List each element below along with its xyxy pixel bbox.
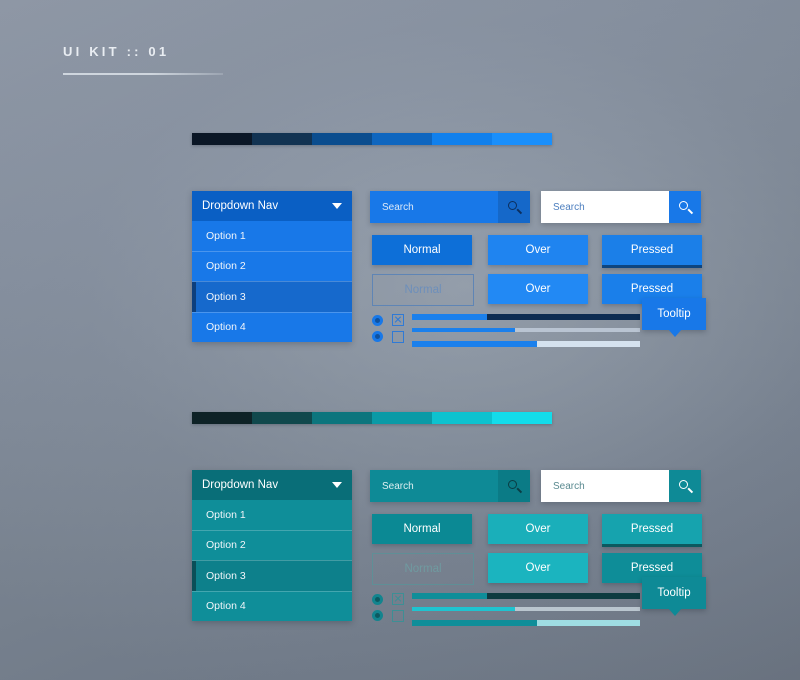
button-label: Over (526, 562, 551, 574)
palette-swatch-6 (492, 133, 552, 145)
check-x-icon (395, 317, 402, 324)
progress-dark[interactable] (412, 593, 640, 599)
button-pressed-solid[interactable]: Pressed (602, 514, 702, 547)
button-label: Normal (403, 523, 440, 535)
title-divider (63, 73, 223, 75)
search-button[interactable] (498, 470, 530, 502)
button-over-alt[interactable]: Over (488, 274, 588, 304)
active-indicator (192, 561, 196, 591)
chevron-down-icon (332, 203, 342, 209)
dropdown-option-1[interactable]: Option 1 (192, 500, 352, 530)
progress-wide[interactable] (412, 620, 640, 626)
checkbox-2[interactable] (392, 610, 404, 622)
progress-wide[interactable] (412, 341, 640, 347)
search-button[interactable] (498, 191, 530, 223)
button-label: Pressed (631, 244, 673, 256)
dropdown-option-label: Option 4 (206, 321, 246, 333)
search-input[interactable]: Search (541, 481, 669, 492)
progress-fill (412, 620, 537, 626)
check-x-icon (395, 596, 402, 603)
search-outline-teal[interactable]: Search (541, 470, 701, 502)
button-label: Pressed (631, 523, 673, 535)
palette-swatch-4 (372, 133, 432, 145)
dropdown-option-label: Option 3 (206, 570, 246, 582)
chevron-down-icon (332, 482, 342, 488)
progress-fill (412, 328, 515, 332)
palette-swatch-5 (432, 412, 492, 424)
dropdown-option-4[interactable]: Option 4 (192, 312, 352, 343)
dropdown-option-2[interactable]: Option 2 (192, 530, 352, 561)
tooltip-label: Tooltip (657, 587, 690, 599)
tooltip-blue: Tooltip (642, 298, 706, 330)
search-icon (508, 480, 521, 493)
dropdown-header[interactable]: Dropdown Nav (192, 191, 352, 221)
button-label: Over (526, 283, 551, 295)
radio-2[interactable] (372, 610, 383, 621)
dropdown-option-label: Option 4 (206, 600, 246, 612)
search-button[interactable] (669, 191, 701, 223)
progress-fill (412, 341, 537, 347)
checkbox-1[interactable] (392, 593, 404, 605)
button-label: Pressed (631, 562, 673, 574)
palette-swatch-3 (312, 412, 372, 424)
radio-1[interactable] (372, 594, 383, 605)
palette-swatch-5 (432, 133, 492, 145)
progress-fill (412, 607, 515, 611)
dropdown-header-label: Dropdown Nav (202, 200, 278, 212)
radio-1[interactable] (372, 315, 383, 326)
dropdown-option-label: Option 2 (206, 260, 246, 272)
search-outline-blue[interactable]: Search (541, 191, 701, 223)
button-normal-solid[interactable]: Normal (372, 235, 472, 265)
search-icon (679, 480, 692, 493)
button-label: Normal (403, 244, 440, 256)
color-palette-teal (192, 412, 552, 424)
active-indicator (192, 282, 196, 312)
button-over-alt[interactable]: Over (488, 553, 588, 583)
palette-swatch-3 (312, 133, 372, 145)
checkbox-2[interactable] (392, 331, 404, 343)
dropdown-option-label: Option 2 (206, 539, 246, 551)
dropdown-option-2[interactable]: Option 2 (192, 251, 352, 282)
dropdown-nav-blue[interactable]: Dropdown NavOption 1Option 2Option 3Opti… (192, 191, 352, 342)
search-icon (679, 201, 692, 214)
dropdown-option-label: Option 3 (206, 291, 246, 303)
tooltip-teal: Tooltip (642, 577, 706, 609)
palette-swatch-4 (372, 412, 432, 424)
button-label: Normal (404, 284, 441, 296)
button-normal-solid[interactable]: Normal (372, 514, 472, 544)
dropdown-option-3[interactable]: Option 3 (192, 281, 352, 312)
button-normal-alt[interactable]: Normal (372, 553, 474, 585)
search-input[interactable]: Search (370, 481, 498, 492)
search-input[interactable]: Search (370, 202, 498, 213)
button-label: Over (526, 523, 551, 535)
search-button[interactable] (669, 470, 701, 502)
dropdown-option-3[interactable]: Option 3 (192, 560, 352, 591)
dropdown-nav-teal[interactable]: Dropdown NavOption 1Option 2Option 3Opti… (192, 470, 352, 621)
button-label: Pressed (631, 283, 673, 295)
button-normal-alt[interactable]: Normal (372, 274, 474, 306)
palette-swatch-6 (492, 412, 552, 424)
search-filled-blue[interactable]: Search (370, 191, 530, 223)
dropdown-option-label: Option 1 (206, 230, 246, 242)
tooltip-pointer (668, 608, 682, 616)
dropdown-option-label: Option 1 (206, 509, 246, 521)
palette-swatch-2 (252, 412, 312, 424)
tooltip-pointer (668, 329, 682, 337)
progress-light[interactable] (412, 607, 640, 611)
color-palette-blue (192, 133, 552, 145)
progress-dark[interactable] (412, 314, 640, 320)
progress-light[interactable] (412, 328, 640, 332)
dropdown-header[interactable]: Dropdown Nav (192, 470, 352, 500)
ui-kit-canvas: UI KIT :: 01 Dropdown NavOption 1Option … (0, 0, 800, 680)
search-filled-teal[interactable]: Search (370, 470, 530, 502)
dropdown-option-1[interactable]: Option 1 (192, 221, 352, 251)
search-input[interactable]: Search (541, 202, 669, 213)
tooltip-label: Tooltip (657, 308, 690, 320)
palette-swatch-1 (192, 133, 252, 145)
search-icon (508, 201, 521, 214)
button-pressed-solid[interactable]: Pressed (602, 235, 702, 268)
checkbox-1[interactable] (392, 314, 404, 326)
radio-2[interactable] (372, 331, 383, 342)
palette-swatch-2 (252, 133, 312, 145)
button-over-solid[interactable]: Over (488, 514, 588, 544)
page-title: UI KIT :: 01 (63, 44, 169, 59)
palette-swatch-1 (192, 412, 252, 424)
dropdown-header-label: Dropdown Nav (202, 479, 278, 491)
dropdown-option-4[interactable]: Option 4 (192, 591, 352, 622)
button-label: Normal (404, 563, 441, 575)
progress-fill (412, 314, 487, 320)
button-label: Over (526, 244, 551, 256)
button-over-solid[interactable]: Over (488, 235, 588, 265)
progress-fill (412, 593, 487, 599)
